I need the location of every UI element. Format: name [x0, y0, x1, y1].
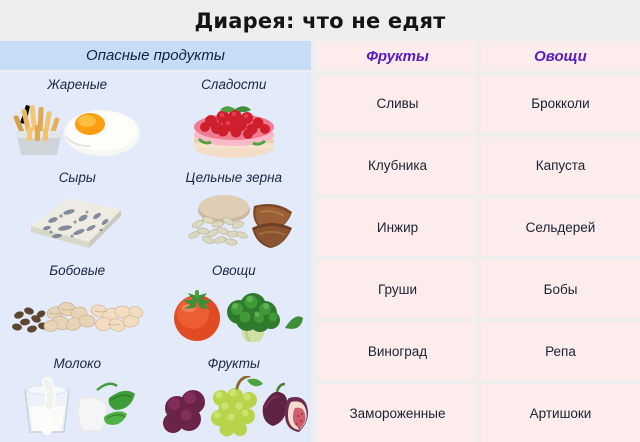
title-bar: Диарея: что не едят [0, 0, 640, 41]
blue-cheese-wedge-icon [0, 185, 155, 256]
table-header-vegetables: Овощи [481, 41, 640, 71]
seeds-and-bread-icon [157, 185, 312, 256]
tomato-and-broccoli-icon [157, 278, 312, 349]
table-cell-label: Клубника [368, 158, 427, 173]
food-cell-label: Молоко [54, 356, 101, 371]
table-cell[interactable]: Инжир [318, 199, 477, 257]
table-cell-label: Репа [545, 344, 576, 359]
dangerous-foods-panel: Опасные продукты Жареные [0, 41, 311, 442]
table-cell-label: Сельдерей [526, 220, 596, 235]
food-cell-legumes[interactable]: Бобовые [0, 258, 155, 349]
food-cell-fried[interactable]: Жареные [0, 72, 155, 163]
food-cell-label: Жареные [47, 77, 107, 92]
table-cell[interactable]: Груши [318, 260, 477, 318]
table-cell-label: Инжир [377, 220, 418, 235]
fries-and-fried-egg-icon [0, 92, 155, 163]
table-cell[interactable]: Капуста [481, 137, 640, 195]
table-cell-label: Артишоки [530, 406, 592, 421]
table-cell[interactable]: Виноград [318, 322, 477, 380]
food-cell-label: Цельные зерна [185, 170, 282, 185]
table-cell[interactable]: Репа [481, 322, 640, 380]
dangerous-foods-grid: Жареные [0, 72, 311, 442]
food-cell-label: Овощи [212, 263, 256, 278]
title-accent-word: Диарея [194, 9, 286, 33]
food-cell-label: Сладости [201, 77, 266, 92]
title-rest-text: : что не едят [286, 9, 446, 33]
food-cell-milk[interactable]: Молоко [0, 351, 155, 442]
table-cell[interactable]: Клубника [318, 137, 477, 195]
food-cell-label: Фрукты [208, 356, 260, 371]
table-header-label: Фрукты [366, 48, 429, 65]
allowed-restricted-table: Фрукты Овощи Сливы Брокколи Клубника Кап… [318, 41, 640, 442]
table-cell[interactable]: Бобы [481, 260, 640, 318]
table-cell[interactable]: Сливы [318, 75, 477, 133]
beans-and-nuts-icon [0, 278, 155, 349]
page-title: Диарея: что не едят [194, 9, 445, 33]
table-cell-label: Сливы [376, 96, 418, 111]
food-cell-fruits[interactable]: Фрукты [157, 351, 312, 442]
food-cell-label: Сыры [59, 170, 96, 185]
food-cell-sweets[interactable]: Сладости [157, 72, 312, 163]
milk-glass-icon [0, 371, 155, 442]
table-cell-label: Брокколи [531, 96, 589, 111]
grapes-plums-figs-icon [157, 371, 312, 442]
food-cell-vegetables[interactable]: Овощи [157, 258, 312, 349]
table-header-label: Овощи [534, 48, 587, 65]
table-cell-label: Виноград [368, 344, 427, 359]
table-cell[interactable]: Сельдерей [481, 199, 640, 257]
dangerous-foods-header-label: Опасные продукты [86, 47, 225, 64]
table-cell[interactable]: Замороженные [318, 384, 477, 442]
dangerous-foods-header: Опасные продукты [0, 41, 311, 70]
table-cell[interactable]: Артишоки [481, 384, 640, 442]
table-header-fruits: Фрукты [318, 41, 477, 71]
table-cell[interactable]: Брокколи [481, 75, 640, 133]
infographic-root: Диарея: что не едят Опасные продукты Жар… [0, 0, 640, 442]
food-cell-whole-grains[interactable]: Цельные зерна [157, 165, 312, 256]
food-cell-cheese[interactable]: Сыры [0, 165, 155, 256]
food-cell-label: Бобовые [49, 263, 105, 278]
berry-cake-icon [157, 92, 312, 163]
table-cell-label: Капуста [536, 158, 586, 173]
table-cell-label: Бобы [544, 282, 578, 297]
table-cell-label: Груши [378, 282, 417, 297]
table-cell-label: Замороженные [350, 406, 446, 421]
